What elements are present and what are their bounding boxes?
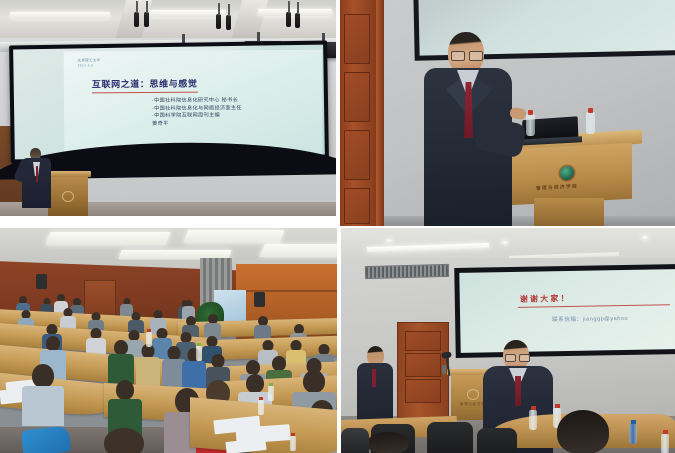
closing-slide-contact: 联系信箱：jiangqp@yahoo [552,314,628,323]
speaker-figure [418,32,522,226]
water-bottle [146,332,152,347]
eyeglasses-icon [451,51,482,59]
person-head [114,340,128,355]
ceiling-light-slot [150,10,226,17]
spotlight-icon [226,15,231,30]
eyeglass-lens [469,51,483,61]
projection-screen: 北京理工大学 2014.5.6 互联网之道：思维与感觉 ·中国社科院信息化研究中… [9,41,329,164]
school-emblem-icon [62,191,74,202]
slide-title: 互联网之道：思维与感觉 [92,77,198,94]
eyeglass-lens [451,51,465,61]
water-bottle [268,386,274,401]
water-bottle [258,400,264,415]
downlight-icon [501,240,509,245]
ceiling-light-panel [184,230,285,243]
person-head [46,336,60,351]
necktie [515,376,521,406]
downlight-icon [385,238,393,243]
ceiling-light-panel [259,244,337,257]
eyeglasses-icon [505,354,528,360]
spotlight-icon [216,14,221,29]
speaker-arm [473,115,527,158]
person-head [32,364,54,388]
ceiling-light-slot [10,12,110,19]
wooden-door [397,322,449,420]
school-emblem-icon [467,389,479,400]
photo-collage: 北京理工大学 2014.5.6 互联网之道：思维与感觉 ·中国社科院信息化研究中… [0,0,675,453]
attendee-head-foreground [557,410,609,453]
chair [477,428,517,453]
water-bottle [629,424,637,444]
water-bottle [661,434,669,453]
slide-body-line: ·中国社科院信息化研究中心 秘书长 [152,97,242,105]
audience-member-foreground [96,428,152,453]
door-panel [344,130,370,180]
slide-header: 北京理工大学 [78,58,101,63]
water-bottle [586,112,595,134]
blue-bag [21,426,71,453]
panel-closing-slide-and-speaker: 谢谢大家！ 联系信箱：jiangqp@yahoo 管理与经济学院 [341,228,675,453]
closing-slide-underline [518,304,670,308]
panel-lecture-hall-wide-shot: 北京理工大学 2014.5.6 互联网之道：思维与感觉 ·中国社科院信息化研究中… [0,0,336,216]
door-panel [405,379,441,403]
audience-member [108,340,134,384]
person-head [168,346,181,360]
panel-audience-tiered-seating: 3 [0,228,337,453]
spotlight-icon [134,12,139,27]
person-torso [22,386,64,426]
attendee-head-foreground [367,432,409,453]
air-vent-grille [365,264,449,279]
audience-member-front [22,364,64,426]
panel-speaker-at-podium-closeup: 管理与经济学院 [340,0,675,226]
necktie [372,369,376,387]
person-head [246,374,264,393]
speaker-body [22,158,51,208]
door-jamb [376,0,384,226]
speaker-body [424,68,512,226]
person-head [104,428,144,453]
water-bottle [196,346,202,361]
lectern-base [534,198,604,226]
downlight-icon [641,235,649,240]
chair [427,422,473,453]
person-head [116,380,134,400]
wood-panel-seam [236,290,337,292]
wall-speaker-icon [254,292,265,307]
closing-slide-title: 谢谢大家！ [520,293,571,305]
wall-speaker-icon [36,274,47,289]
spotlight-icon [295,13,300,28]
person-head [272,356,286,371]
door-panel [405,353,441,377]
slide-body: ·中国社科院信息化研究中心 秘书长 ·中国社科院信息化与网络经济室主任 ·中国科… [152,97,242,128]
lectern-inscription: 管理与经济学院 [536,184,578,192]
slide-content: 北京理工大学 2014.5.6 互联网之道：思维与感觉 ·中国社科院信息化研究中… [64,50,323,156]
lectern [48,175,88,216]
water-bottle [526,114,535,136]
door-panel [344,188,370,224]
school-emblem-icon [560,166,574,181]
spotlight-icon [144,12,149,27]
person-head [303,370,325,393]
ceiling-light-panel [45,232,170,245]
spotlight-icon [286,12,291,27]
door-handle-icon [442,365,446,374]
slide-date: 2014.5.6 [78,63,94,67]
lectern-top [45,171,91,177]
speaker-tie [36,166,39,182]
door-panel [344,72,370,122]
person-head [246,360,260,375]
wooden-door [340,0,384,226]
eyeglass-lens [519,354,530,362]
person-head [212,354,225,368]
lectern-front-face: 管理与经济学院 [506,143,632,206]
water-bottle [290,436,296,451]
water-bottle [529,410,537,430]
door-panel [344,14,370,64]
eyeglass-lens [505,354,516,362]
slide-body-line: 姜奇平 [152,120,242,128]
door-panel [405,331,441,351]
chair [341,428,369,453]
